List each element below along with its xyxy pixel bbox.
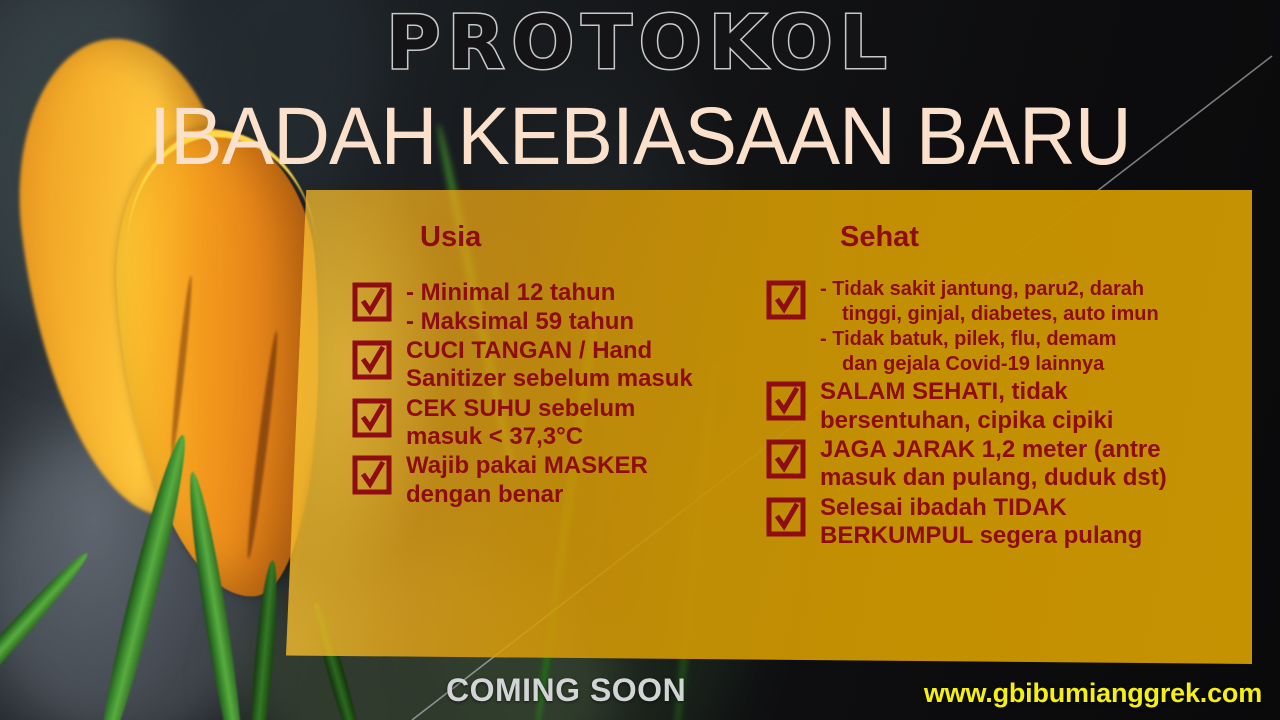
website-url-link[interactable]: www.gbibumianggrek.com: [924, 678, 1262, 709]
list-item-line: CUCI TANGAN / Hand: [406, 337, 693, 365]
list-item-line: CEK SUHU sebelum: [406, 395, 635, 423]
checkbox-checked-icon: [352, 455, 392, 495]
list-item-line: - Maksimal 59 tahun: [406, 308, 634, 336]
coming-soon-label: COMING SOON: [446, 672, 686, 709]
list-item: - Minimal 12 tahun - Maksimal 59 tahun: [352, 278, 762, 336]
list-item-line: Selesai ibadah TIDAK: [820, 494, 1142, 522]
page-title-primary: PROTOKOL: [0, 6, 1280, 80]
list-item-text: - Minimal 12 tahun - Maksimal 59 tahun: [406, 278, 634, 336]
list-item-line: - Tidak sakit jantung, paru2, darah: [820, 277, 1159, 302]
list-item-text: CEK SUHU sebelum masuk < 37,3°C: [406, 394, 635, 452]
list-item-line: dan gejala Covid-19 lainnya: [820, 352, 1159, 377]
list-item-text: SALAM SEHATI, tidak bersentuhan, cipika …: [820, 377, 1113, 435]
list-item-line: - Tidak batuk, pilek, flu, demam: [820, 327, 1159, 352]
list-item-line: masuk dan pulang, duduk dst): [820, 464, 1167, 492]
left-column: Usia - Minimal 12 tahun - Maksimal 59 ta…: [352, 222, 762, 509]
list-item: CEK SUHU sebelum masuk < 37,3°C: [352, 394, 762, 452]
poster-canvas: PROTOKOL IBADAH KEBIASAAN BARU Usia - Mi…: [0, 0, 1280, 720]
left-section-heading: Usia: [420, 222, 762, 252]
list-item: JAGA JARAK 1,2 meter (antre masuk dan pu…: [766, 435, 1246, 493]
right-section-heading: Sehat: [840, 222, 1246, 252]
list-item-line: masuk < 37,3°C: [406, 423, 635, 451]
list-item: CUCI TANGAN / Hand Sanitizer sebelum mas…: [352, 336, 762, 394]
right-column: Sehat - Tidak sakit jantung, paru2, dara…: [766, 222, 1246, 550]
list-item-line: Sanitizer sebelum masuk: [406, 365, 693, 393]
list-item-line: - Minimal 12 tahun: [406, 279, 634, 307]
checkbox-checked-icon: [766, 381, 806, 421]
list-item-line: BERKUMPUL segera pulang: [820, 522, 1142, 550]
checkbox-checked-icon: [766, 497, 806, 537]
list-item-line: dengan benar: [406, 481, 648, 509]
list-item: Wajib pakai MASKER dengan benar: [352, 451, 762, 509]
list-item-text: Wajib pakai MASKER dengan benar: [406, 451, 648, 509]
list-item-text: - Tidak sakit jantung, paru2, darah ting…: [820, 276, 1159, 377]
list-item: SALAM SEHATI, tidak bersentuhan, cipika …: [766, 377, 1246, 435]
list-item: Selesai ibadah TIDAK BERKUMPUL segera pu…: [766, 493, 1246, 551]
checkbox-checked-icon: [352, 340, 392, 380]
list-item-text: CUCI TANGAN / Hand Sanitizer sebelum mas…: [406, 336, 693, 394]
list-item-line: bersentuhan, cipika cipiki: [820, 407, 1113, 435]
list-item-text: JAGA JARAK 1,2 meter (antre masuk dan pu…: [820, 435, 1167, 493]
list-item-line: tinggi, ginjal, diabetes, auto imun: [820, 302, 1159, 327]
list-item: - Tidak sakit jantung, paru2, darah ting…: [766, 276, 1246, 377]
list-item-text: Selesai ibadah TIDAK BERKUMPUL segera pu…: [820, 493, 1142, 551]
checkbox-checked-icon: [766, 439, 806, 479]
checkbox-checked-icon: [352, 282, 392, 322]
checkbox-checked-icon: [766, 280, 806, 320]
page-title-secondary: IBADAH KEBIASAAN BARU: [26, 96, 1255, 178]
list-item-line: SALAM SEHATI, tidak: [820, 378, 1113, 406]
checkbox-checked-icon: [352, 398, 392, 438]
list-item-line: JAGA JARAK 1,2 meter (antre: [820, 436, 1167, 464]
list-item-line: Wajib pakai MASKER: [406, 452, 648, 480]
